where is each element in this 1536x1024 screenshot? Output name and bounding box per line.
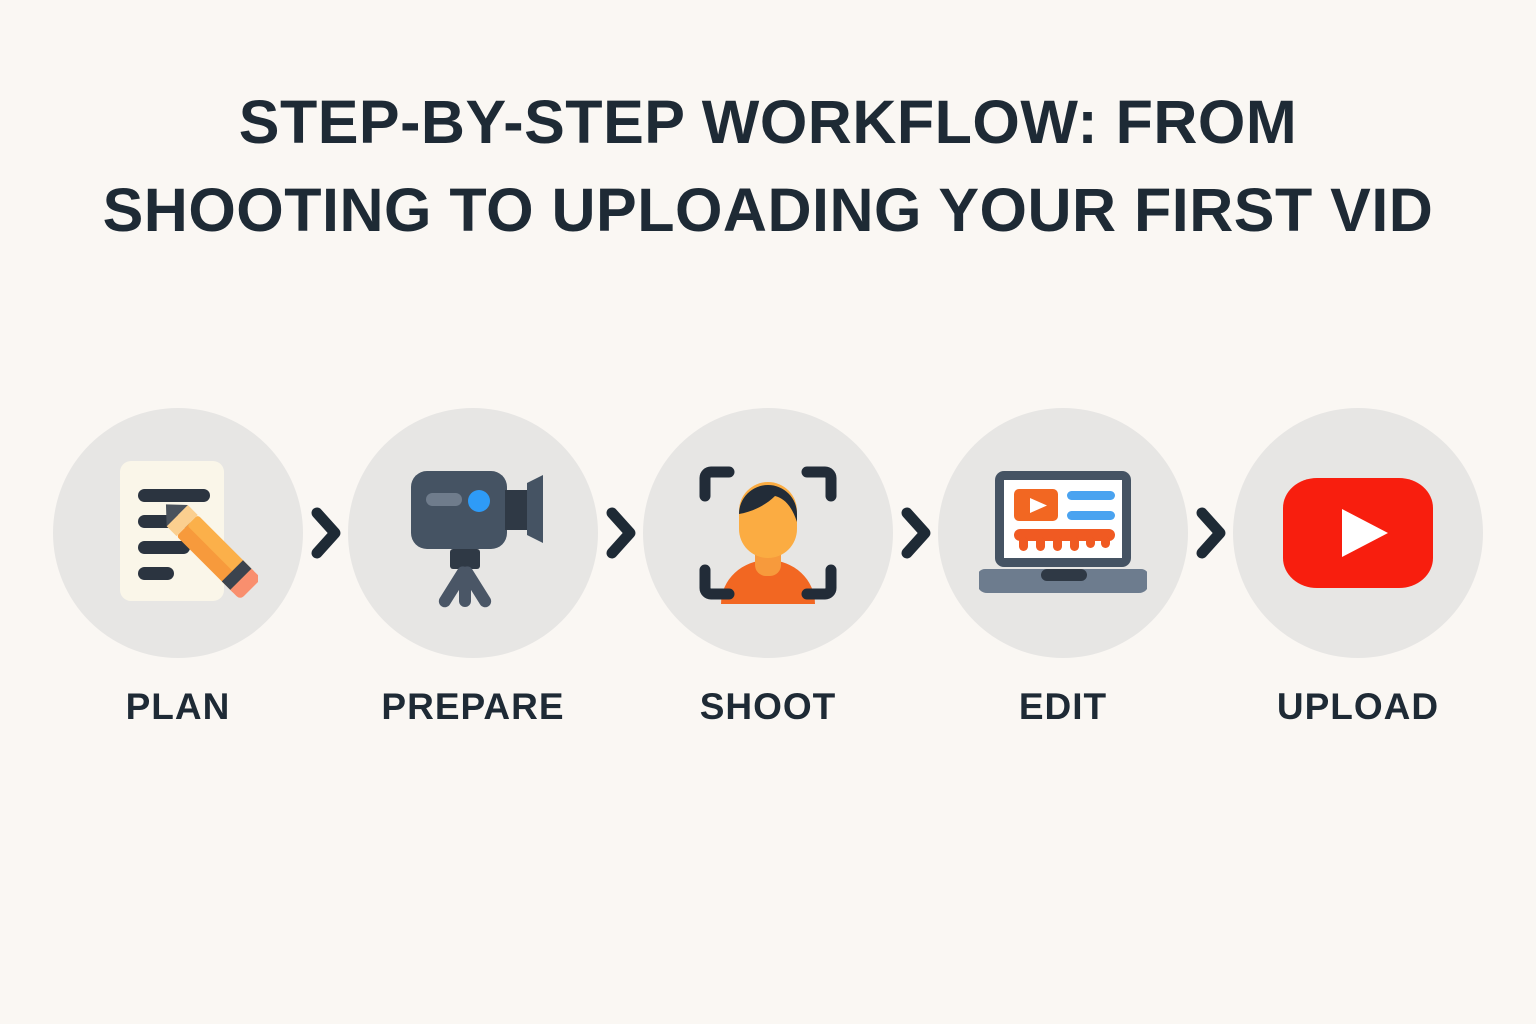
page-title: STEP-BY-STEP WORKFLOW: FROM SHOOTING TO … [0, 78, 1536, 254]
chevron-right-icon-3 [893, 408, 938, 658]
step-icon-circle-prepare [348, 408, 598, 658]
person-viewfinder-icon [687, 452, 849, 614]
youtube-play-icon [1278, 473, 1438, 593]
workflow-step-prepare[interactable]: PREPARE [348, 408, 598, 728]
workflow-step-shoot[interactable]: SHOOT [643, 408, 893, 728]
workflow-steps: PLAN [0, 408, 1536, 758]
step-icon-circle-shoot [643, 408, 893, 658]
step-label-plan: PLAN [126, 686, 231, 728]
step-label-prepare: PREPARE [381, 686, 564, 728]
step-icon-circle-plan [53, 408, 303, 658]
workflow-step-edit[interactable]: EDIT [938, 408, 1188, 728]
step-label-upload: UPLOAD [1277, 686, 1439, 728]
page-title-line-2: SHOOTING TO UPLOADING YOUR FIRST VID [0, 166, 1536, 254]
laptop-video-editor-icon [979, 463, 1147, 603]
workflow-step-plan[interactable]: PLAN [53, 408, 303, 728]
page-title-line-1: STEP-BY-STEP WORKFLOW: FROM [0, 78, 1536, 166]
document-pencil-icon [98, 453, 258, 613]
step-icon-circle-upload [1233, 408, 1483, 658]
step-label-edit: EDIT [1019, 686, 1107, 728]
chevron-right-icon-2 [598, 408, 643, 658]
step-icon-circle-edit [938, 408, 1188, 658]
workflow-step-upload[interactable]: UPLOAD [1233, 408, 1483, 728]
chevron-right-icon-4 [1188, 408, 1233, 658]
chevron-right-icon-1 [303, 408, 348, 658]
step-label-shoot: SHOOT [700, 686, 837, 728]
video-camera-tripod-icon [393, 453, 553, 613]
